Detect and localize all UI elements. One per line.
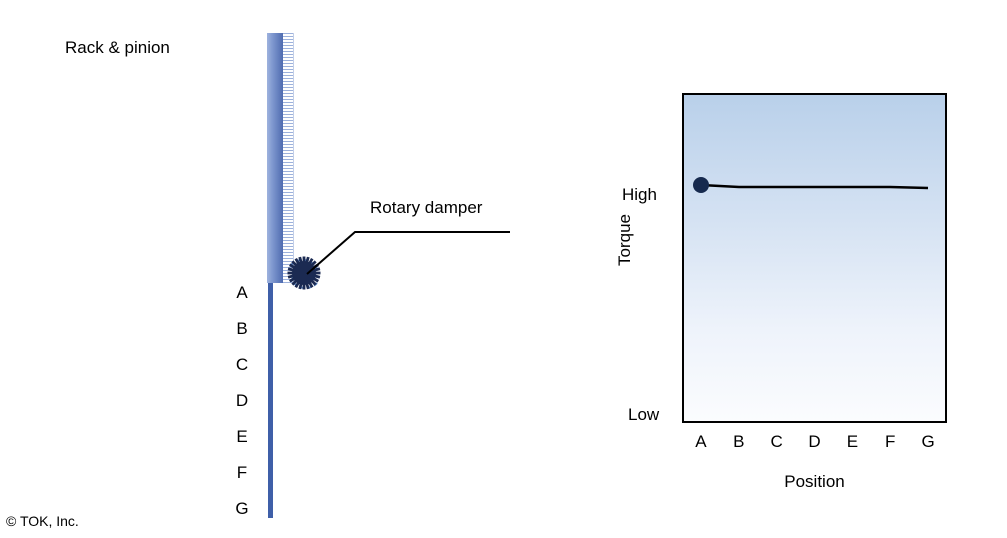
rack-position-letter: C (230, 347, 254, 383)
damper-leader-line (300, 222, 515, 277)
x-axis-tick: G (909, 432, 947, 452)
rack-shaft (268, 283, 273, 518)
rack-position-letter: D (230, 383, 254, 419)
rack-position-letter: E (230, 419, 254, 455)
rack-and-pinion-label: Rack & pinion (65, 38, 170, 58)
rack-position-letters: A B C D E F G (230, 275, 254, 527)
x-axis-tick: F (871, 432, 909, 452)
x-axis-tick: B (720, 432, 758, 452)
x-axis-tick: D (796, 432, 834, 452)
rack-position-letter: G (230, 491, 254, 527)
x-axis-tick: A (682, 432, 720, 452)
x-axis-tick: E (833, 432, 871, 452)
rack-position-letter: A (230, 275, 254, 311)
diagram-canvas: Rack & pinion (0, 0, 1007, 538)
x-axis-tick-labels: A B C D E F G (682, 432, 947, 452)
torque-curve (682, 93, 947, 423)
y-axis-title: Torque (615, 170, 635, 310)
x-axis-tick: C (758, 432, 796, 452)
y-axis-tick-low: Low (628, 405, 659, 425)
rotary-damper-label: Rotary damper (370, 198, 482, 218)
torque-position-chart: High Low Torque A B C D E F G Position (600, 80, 1000, 510)
rack-position-letter: F (230, 455, 254, 491)
x-axis-title: Position (682, 472, 947, 492)
rack-position-letter: B (230, 311, 254, 347)
copyright-notice: © TOK, Inc. (6, 513, 79, 529)
